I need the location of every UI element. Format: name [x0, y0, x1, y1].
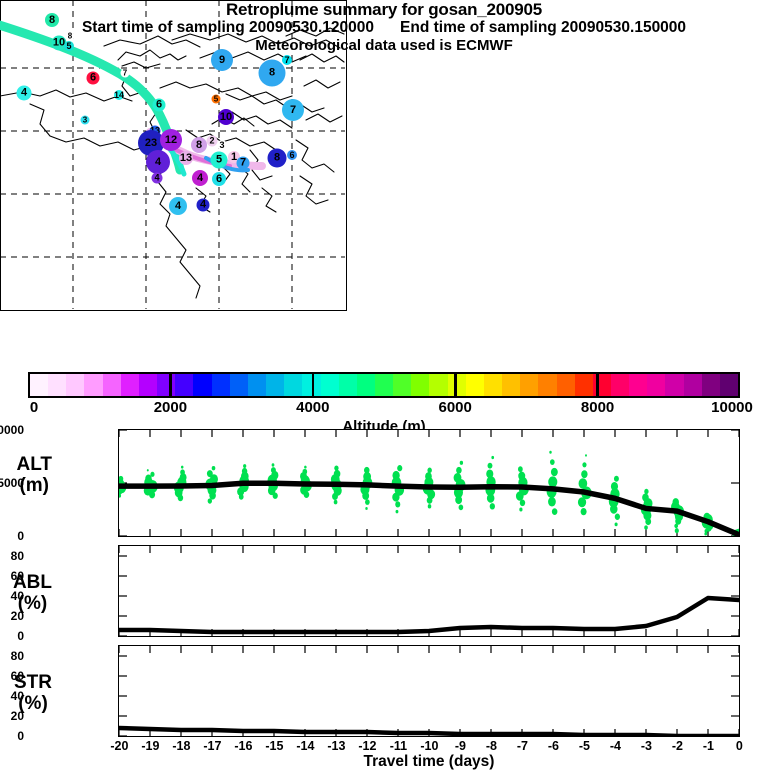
map-marker-15: 7: [282, 99, 304, 121]
alt-scatter-point: [334, 470, 341, 478]
alt-scatter-point: [212, 466, 216, 470]
colorbar-gradient: [28, 372, 740, 398]
alt-scatter-point: [552, 508, 558, 515]
colorbar-cell-24: [466, 374, 484, 396]
colorbar-cell-32: [611, 374, 629, 396]
colorbar-cell-23: [448, 374, 466, 396]
colorbar-cell-5: [121, 374, 139, 396]
alt-scatter-point: [460, 461, 463, 465]
colorbar-cell-16: [321, 374, 339, 396]
colorbar-cell-10: [212, 374, 230, 396]
alt-scatter-point: [615, 522, 618, 526]
map-marker-25: 5: [211, 152, 228, 169]
map-marker-7: 3: [81, 116, 90, 125]
xtick--8: -8: [486, 739, 497, 753]
alt-scatter-point: [614, 476, 619, 482]
map-marker-32: 4: [169, 197, 187, 215]
map-marker-2: 5: [64, 41, 74, 51]
colorbar-cell-3: [84, 374, 102, 396]
alt-scatter-point: [585, 454, 587, 456]
alt-ytick-5000: 5000: [0, 476, 24, 490]
colorbar-cell-4: [103, 374, 121, 396]
xtick--4: -4: [610, 739, 621, 753]
xtick--17: -17: [203, 739, 221, 753]
alt-scatter-point: [486, 469, 493, 478]
colorbar-divider-8000: [596, 372, 599, 398]
xtick--2: -2: [672, 739, 683, 753]
colorbar-cell-28: [538, 374, 556, 396]
alt-scatter-point: [615, 514, 620, 520]
alt-label-line1: ALT: [16, 454, 52, 475]
colorbar-cell-20: [393, 374, 411, 396]
xtick--16: -16: [234, 739, 252, 753]
xtick--6: -6: [548, 739, 559, 753]
map-marker-5: 6: [87, 72, 100, 85]
alt-scatter-point: [456, 467, 462, 474]
map-marker-33: 4: [197, 199, 210, 212]
end-time-label: End time of sampling 20090530.150000: [400, 19, 686, 37]
alt-scatter-point: [302, 469, 307, 475]
colorbar-cell-35: [665, 374, 683, 396]
alt-scatter-point: [675, 528, 679, 533]
alt-scatter-point: [642, 493, 649, 501]
alt-scatter-point: [397, 465, 402, 471]
alt-scatter-point: [304, 466, 306, 469]
xtick--3: -3: [641, 739, 652, 753]
colorbar-cell-11: [230, 374, 248, 396]
alt-scatter-point: [425, 472, 432, 480]
colorbar-tick-6000: 6000: [439, 399, 472, 416]
str-ytick-60: 60: [11, 669, 24, 683]
colorbar-divider-2000: [169, 372, 172, 398]
colorbar-cell-12: [248, 374, 266, 396]
colorbar-cell-17: [339, 374, 357, 396]
map-marker-0: 8: [45, 13, 59, 27]
colorbar-cell-9: [193, 374, 211, 396]
map-marker-28: 8: [268, 149, 287, 168]
alt-scatter-point: [271, 467, 276, 473]
colorbar-cell-33: [629, 374, 647, 396]
alt-scatter-point: [365, 507, 367, 510]
alt-scatter-point: [491, 456, 494, 459]
alt-scatter-point: [550, 459, 555, 465]
map-marker-11: 7: [282, 55, 292, 65]
map-marker-12: 8: [259, 60, 286, 87]
alt-scatter-point: [334, 466, 338, 471]
map-marker-20: 8: [191, 137, 207, 153]
alt-scatter-point: [272, 463, 275, 466]
alt-scatter-point: [581, 470, 587, 478]
alt-scatter-point: [518, 466, 523, 472]
map-marker-31: 6: [212, 172, 226, 186]
map-marker-9: 6: [153, 99, 166, 112]
colorbar-tick-8000: 8000: [581, 399, 614, 416]
colorbar-divider-4000: [312, 372, 315, 398]
xtick--10: -10: [420, 739, 438, 753]
alt-scatter-point: [548, 476, 557, 487]
xtick--1: -1: [703, 739, 714, 753]
alt-scatter-point: [180, 469, 185, 475]
abl-line: [119, 598, 739, 632]
xtick--18: -18: [172, 739, 190, 753]
alt-scatter-point: [396, 510, 399, 513]
alt-scatter-point: [334, 500, 338, 504]
colorbar-cell-36: [684, 374, 702, 396]
alt-scatter-point: [582, 462, 586, 467]
alt-ytick-10000: 10000: [0, 423, 24, 437]
xtick--19: -19: [141, 739, 159, 753]
colorbar-cell-27: [520, 374, 538, 396]
map-marker-3: 8: [66, 32, 75, 41]
alt-scatter-point: [242, 468, 247, 475]
xtick--12: -12: [358, 739, 376, 753]
alt-scatter-point: [548, 497, 556, 506]
map-marker-23: 4: [146, 150, 170, 174]
map-marker-10: 9: [211, 49, 233, 71]
colorbar-cell-1: [48, 374, 66, 396]
alt-scatter-point: [611, 482, 618, 491]
alt-scatter-point: [243, 464, 246, 468]
alt-scatter-point: [392, 471, 399, 480]
colorbar-cell-13: [266, 374, 284, 396]
colorbar-cell-19: [375, 374, 393, 396]
xtick--9: -9: [455, 739, 466, 753]
abl-ytick-60: 60: [11, 569, 24, 583]
alt-scatter-point: [207, 470, 213, 477]
colorbar-cell-26: [502, 374, 520, 396]
alt-scatter-point: [644, 489, 648, 494]
map-marker-6: 14: [114, 90, 124, 100]
alt-scatter-point: [519, 508, 522, 512]
xtick--15: -15: [265, 739, 283, 753]
abl-ytick-20: 20: [11, 609, 24, 623]
map-marker-30: 4: [192, 170, 208, 186]
xtick-0: 0: [736, 739, 743, 753]
colorbar-cell-34: [647, 374, 665, 396]
colorbar-cell-8: [175, 374, 193, 396]
alt-scatter-point: [581, 508, 587, 515]
colorbar-tick-4000: 4000: [296, 399, 329, 416]
abl-ytick-80: 80: [11, 549, 24, 563]
str-ytick-80: 80: [11, 649, 24, 663]
alt-scatter-point: [181, 466, 183, 469]
alt-plot-panel: [118, 429, 740, 537]
alt-scatter-point: [428, 504, 432, 508]
map-marker-22: 3: [217, 140, 227, 150]
alt-scatter-point: [150, 472, 154, 477]
alt-scatter-point: [549, 451, 551, 454]
str-ytick-20: 20: [11, 709, 24, 723]
abl-ytick-40: 40: [11, 589, 24, 603]
alt-scatter-point: [488, 463, 493, 469]
retroplume-map: 8105846143769785107613231282341351784464…: [0, 0, 347, 311]
alt-scatter-point: [672, 498, 678, 506]
abl-plot-panel: [118, 545, 740, 637]
colorbar-cell-2: [66, 374, 84, 396]
colorbar-cell-25: [484, 374, 502, 396]
colorbar-cell-21: [411, 374, 429, 396]
map-marker-19: 12: [160, 129, 182, 151]
colorbar-cell-30: [575, 374, 593, 396]
alt-scatter-point: [395, 501, 400, 507]
xtick--13: -13: [327, 739, 345, 753]
map-marker-21: 2: [207, 136, 218, 147]
colorbar-cell-38: [720, 374, 738, 396]
colorbar-cell-22: [429, 374, 447, 396]
alt-scatter-point: [365, 499, 370, 505]
xtick--7: -7: [517, 739, 528, 753]
map-marker-4: 4: [17, 86, 32, 101]
str-ytick-0: 0: [17, 729, 24, 743]
map-marker-8: 7: [121, 69, 130, 78]
colorbar-cell-14: [284, 374, 302, 396]
str-ytick-40: 40: [11, 689, 24, 703]
colorbar-tick-0: 0: [30, 399, 38, 416]
map-marker-13: 5: [212, 95, 221, 104]
abl-ytick-0: 0: [17, 629, 24, 643]
colorbar-cell-18: [357, 374, 375, 396]
map-marker-14: 10: [218, 109, 234, 125]
altitude-colorbar: 0200040006000800010000 Altitude (m): [28, 372, 740, 398]
alt-scatter-point: [427, 468, 431, 473]
xtick--11: -11: [390, 739, 407, 753]
map-marker-24: 13: [179, 151, 193, 165]
xtick--5: -5: [579, 739, 590, 753]
xtick--20: -20: [110, 739, 128, 753]
colorbar-cell-37: [702, 374, 720, 396]
colorbar-tick-10000: 10000: [711, 399, 753, 416]
colorbar-cell-6: [139, 374, 157, 396]
colorbar-cell-7: [157, 374, 175, 396]
colorbar-cell-29: [557, 374, 575, 396]
map-marker-27: 7: [237, 157, 250, 170]
alt-scatter-point: [644, 525, 648, 529]
alt-scatter-point: [579, 478, 588, 489]
map-marker-29: 4: [152, 173, 163, 184]
alt-scatter-point: [364, 467, 370, 474]
alt-scatter-point: [518, 472, 525, 481]
alt-scatter-point: [551, 468, 558, 476]
str-plot-panel: [118, 645, 740, 737]
colorbar-divider-6000: [454, 372, 457, 398]
map-marker-16: 6: [287, 150, 297, 160]
colorbar-cell-0: [30, 374, 48, 396]
x-axis-label: Travel time (days): [118, 753, 740, 771]
colorbar-tick-2000: 2000: [154, 399, 187, 416]
alt-scatter-point: [454, 473, 462, 483]
xtick--14: -14: [296, 739, 314, 753]
alt-scatter-point: [147, 469, 149, 471]
alt-scatter-point: [459, 505, 464, 511]
alt-ytick-0: 0: [17, 529, 24, 543]
alt-scatter-point: [490, 503, 495, 509]
